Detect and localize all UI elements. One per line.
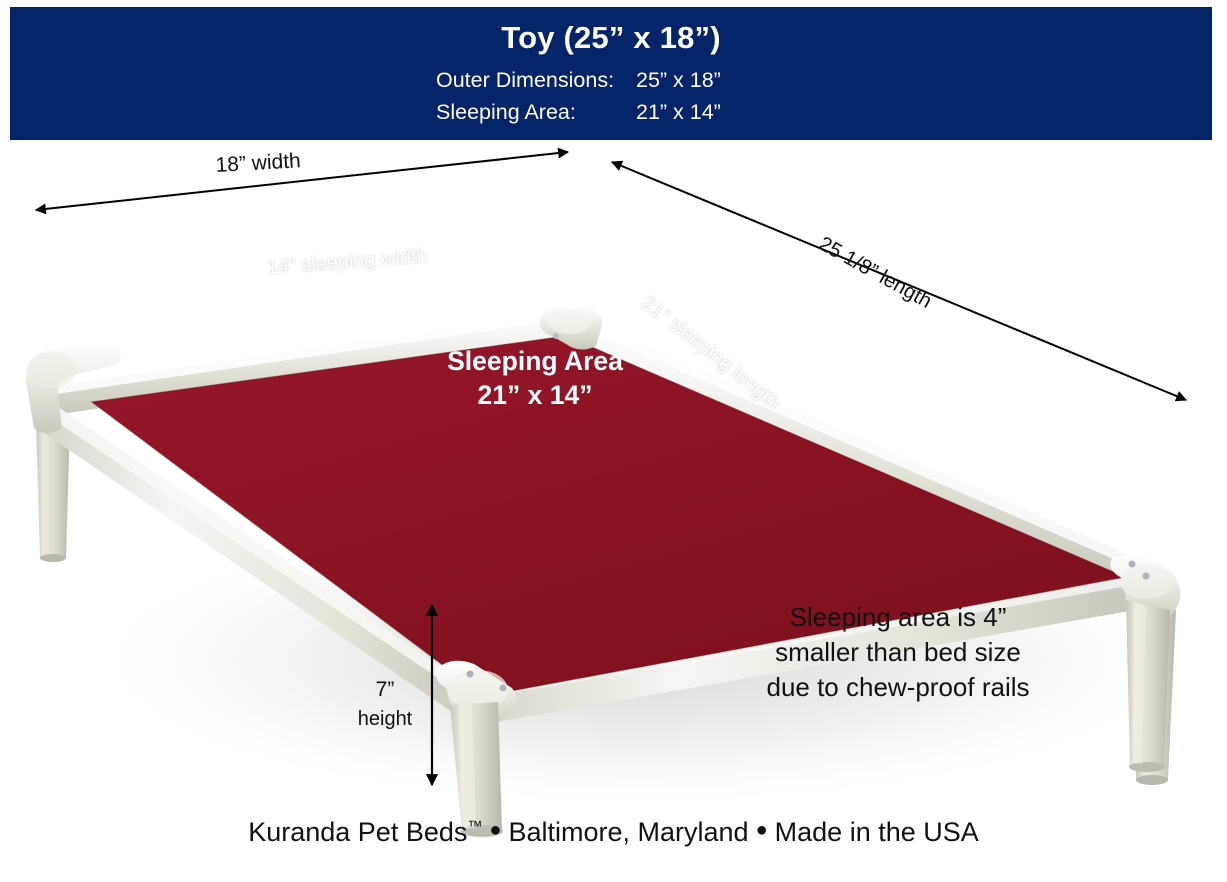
dimension-label-width: 18” width: [215, 149, 301, 178]
height-callout-word: height: [345, 705, 425, 734]
sleeping-area-callout-title: Sleeping Area: [380, 345, 690, 378]
spec-label-outer-dimensions: Outer Dimensions:: [436, 68, 636, 93]
header-bar: Toy (25” x 18”) Outer Dimensions:25” x 1…: [10, 7, 1212, 140]
bed-illustration: [0, 140, 1227, 882]
spec-label-sleeping-area: Sleeping Area:: [436, 100, 636, 125]
leg-front-right: [1126, 600, 1170, 772]
footer-bullet-2: ●: [749, 819, 775, 842]
spec-value-outer-dimensions: 25” x 18”: [636, 68, 786, 93]
chew-proof-note: Sleeping area is 4” smaller than bed siz…: [718, 600, 1078, 704]
bed-diagram: 18” width 14” sleeping width 25 1/8” len…: [0, 140, 1227, 882]
height-callout: 7” height: [345, 675, 425, 734]
footer-bullet-1: ●: [482, 819, 508, 842]
spec-row-sleeping-area: Sleeping Area:21” x 14”: [10, 100, 1212, 125]
footer-brand: Kuranda Pet Beds: [248, 817, 467, 847]
sleeping-area-callout-dimensions: 21” x 14”: [380, 378, 690, 412]
chew-proof-note-line-3: due to chew-proof rails: [718, 670, 1078, 705]
page-title: Toy (25” x 18”): [10, 21, 1212, 55]
footer-origin: Made in the USA: [775, 817, 979, 847]
sleeping-area-callout: Sleeping Area 21” x 14”: [380, 345, 690, 413]
footer-credit: Kuranda Pet Beds™●Baltimore, Maryland●Ma…: [0, 817, 1227, 848]
footer-trademark-symbol: ™: [467, 818, 482, 835]
diagram-page: Toy (25” x 18”) Outer Dimensions:25” x 1…: [0, 0, 1227, 882]
spec-row-outer-dimensions: Outer Dimensions:25” x 18”: [10, 68, 1212, 93]
spec-value-sleeping-area: 21” x 14”: [636, 100, 786, 125]
chew-proof-note-line-1: Sleeping area is 4”: [718, 600, 1078, 635]
footer-location: Baltimore, Maryland: [508, 817, 748, 847]
chew-proof-note-line-2: smaller than bed size: [718, 635, 1078, 670]
height-callout-value: 7”: [345, 675, 425, 705]
arrow-width: [36, 152, 568, 210]
